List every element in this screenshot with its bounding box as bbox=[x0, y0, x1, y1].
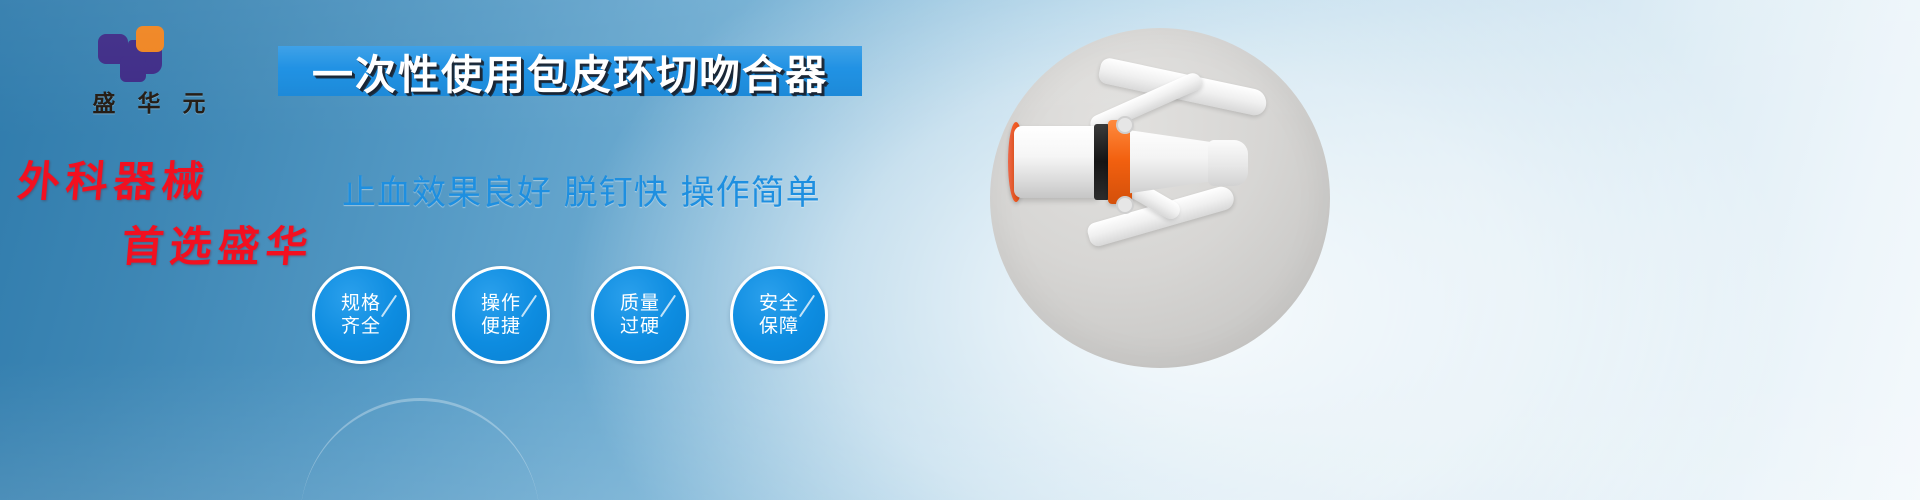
calligraphy-line-1: 外科器械 bbox=[15, 148, 350, 209]
slash-accent-icon bbox=[521, 295, 537, 318]
calligraphy-line-2: 首选盛华 bbox=[119, 213, 350, 274]
brand-name: 盛 华 元 bbox=[60, 84, 245, 118]
logo-block-2 bbox=[120, 56, 146, 82]
decorative-arc bbox=[300, 398, 540, 500]
device-pivot-lower bbox=[1116, 196, 1134, 214]
badge-line-2: 齐全 bbox=[341, 315, 381, 338]
logo-blocks-icon bbox=[98, 26, 176, 82]
brand-logo[interactable]: 盛 华 元 bbox=[60, 26, 245, 121]
badge-line-1: 操作 bbox=[481, 292, 521, 315]
device-body-cylinder bbox=[1014, 126, 1100, 198]
badge-safety[interactable]: 安全 保障 bbox=[730, 266, 828, 364]
slash-accent-icon bbox=[381, 295, 397, 318]
device-tip bbox=[1208, 140, 1248, 186]
promo-banner: 盛 华 元 一次性使用包皮环切吻合器 外科器械 首选盛华 止血效果良好 脱钉快 … bbox=[0, 0, 1920, 500]
badge-line-1: 规格 bbox=[341, 292, 381, 315]
badge-line-1: 质量 bbox=[620, 292, 660, 315]
device-pivot-upper bbox=[1116, 116, 1134, 134]
calligraphy-slogan: 外科器械 首选盛华 bbox=[18, 148, 348, 258]
badge-line-1: 安全 bbox=[759, 292, 799, 315]
slash-accent-icon bbox=[799, 295, 815, 318]
device-cone bbox=[1130, 126, 1216, 196]
badge-line-2: 保障 bbox=[759, 315, 799, 338]
badge-line-2: 过硬 bbox=[620, 315, 660, 338]
product-title-bar: 一次性使用包皮环切吻合器 bbox=[278, 46, 862, 96]
badge-quality[interactable]: 质量 过硬 bbox=[591, 266, 689, 364]
badge-operation[interactable]: 操作 便捷 bbox=[452, 266, 550, 364]
logo-block-orange bbox=[136, 26, 164, 52]
slash-accent-icon bbox=[660, 295, 676, 318]
feature-subtitle: 止血效果良好 脱钉快 操作简单 bbox=[342, 165, 821, 214]
badge-specification[interactable]: 规格 齐全 bbox=[312, 266, 410, 364]
badge-line-2: 便捷 bbox=[481, 315, 521, 338]
product-title: 一次性使用包皮环切吻合器 bbox=[312, 41, 828, 101]
product-photo bbox=[990, 28, 1330, 368]
